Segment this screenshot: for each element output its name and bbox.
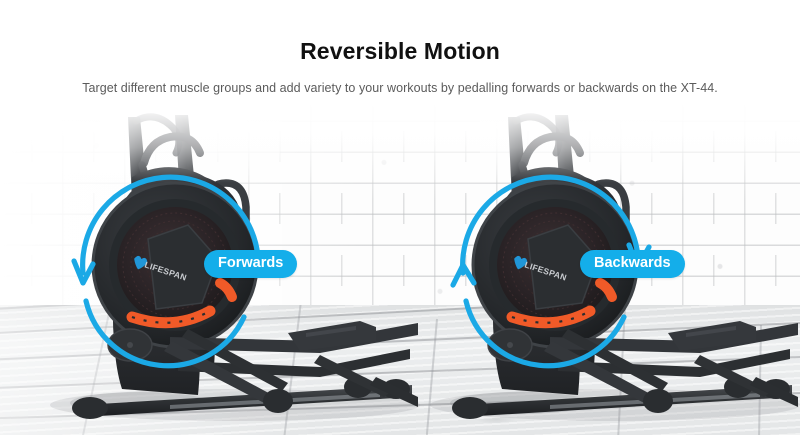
page-title: Reversible Motion <box>0 38 800 65</box>
header: Reversible Motion Target different muscl… <box>0 0 800 105</box>
page-subtitle: Target different muscle groups and add v… <box>0 81 800 95</box>
badge-backwards[interactable]: Backwards <box>580 250 685 278</box>
badge-forwards[interactable]: Forwards <box>204 250 297 278</box>
page-root: LIFESPAN <box>0 0 800 435</box>
